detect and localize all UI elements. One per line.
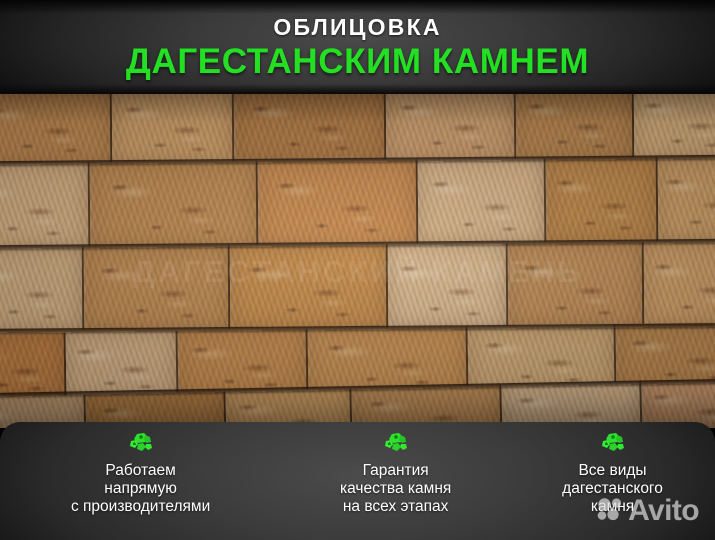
stone-cluster-icon [383,432,409,459]
stone-cluster-icon [128,432,154,459]
feature-item: Работаем напрямую с производителями [0,432,281,516]
stone-course [0,157,715,248]
feature-text: Гарантия качества камня на всех этапах [340,462,451,516]
stone-course [0,92,715,163]
avito-logo: Avito [597,496,699,526]
headline-primary: ОБЛИЦОВКА [273,16,441,39]
header-banner: ОБЛИЦОВКА ДАГЕСТАНСКИМ КАМНЕМ [0,0,715,94]
headline-secondary: ДАГЕСТАНСКИМ КАМНЕМ [126,44,589,79]
stone-wall-photo: ДАГЕСТАНСКИЙ КАМЕНЬ [0,92,715,428]
feature-item: Гарантия качества камня на всех этапах [281,432,510,516]
stone-course [0,241,715,330]
feature-text: Работаем напрямую с производителями [71,462,210,516]
listing-ad-card: ОБЛИЦОВКА ДАГЕСТАНСКИМ КАМНЕМ [0,0,715,540]
avito-wordmark: Avito [628,496,699,526]
stone-cluster-icon [600,432,626,459]
avito-dots-icon [597,497,623,526]
stone-wall-texture [0,92,715,428]
